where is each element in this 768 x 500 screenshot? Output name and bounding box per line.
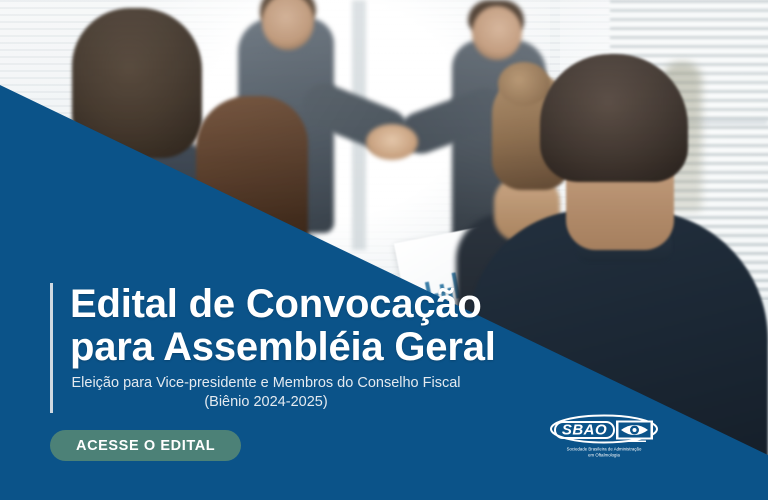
standing-man-right-head — [472, 6, 522, 60]
sbao-tagline-line-2: em Oftalmologia — [538, 453, 670, 459]
sbao-tagline-line-1: Sociedade Brasileira de Administração — [567, 447, 642, 452]
page-title: Edital de Convocação para Assembléia Ger… — [70, 283, 510, 369]
seated-woman-hair-bun — [498, 62, 550, 106]
subtitle-line-1: Eleição para Vice-presidente e Membros d… — [71, 375, 460, 391]
handshake — [366, 124, 418, 160]
title-line-2: para Assembléia Geral — [70, 326, 510, 369]
title-accent-bar — [50, 283, 53, 413]
title-block: Edital de Convocação para Assembléia Ger… — [50, 283, 510, 413]
sbao-logo-svg: SBAO — [548, 412, 660, 446]
title-line-1: Edital de Convocação — [70, 283, 510, 326]
sbao-logo[interactable]: SBAO Sociedade Brasileira de Administraç… — [548, 412, 660, 457]
sbao-wordmark: SBAO — [562, 422, 607, 439]
sbao-logo-mark: SBAO — [548, 412, 660, 446]
acesse-o-edital-button[interactable]: ACESSE O EDITAL — [50, 430, 241, 461]
banner-content: Edital de Convocação para Assembléia Ger… — [50, 283, 510, 413]
sbao-tagline: Sociedade Brasileira de Administração em… — [538, 447, 670, 459]
page-subtitle: Eleição para Vice-presidente e Membros d… — [70, 374, 462, 413]
foreground-man-head — [540, 54, 688, 182]
subtitle-line-2: (Biênio 2024-2025) — [70, 393, 462, 413]
announcement-banner: Edital de Convocação para Assembléia Ger… — [0, 0, 768, 500]
